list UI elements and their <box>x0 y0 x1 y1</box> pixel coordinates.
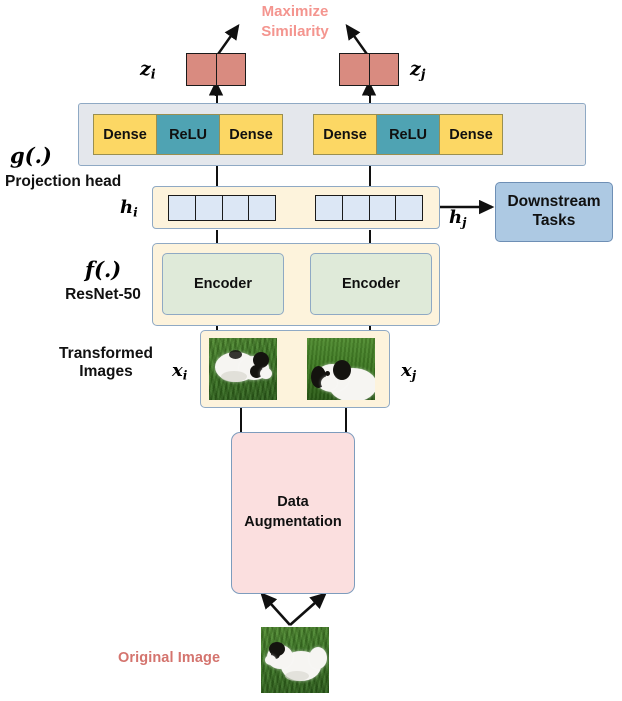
z-i-label: zi <box>140 58 156 83</box>
data-augmentation-block[interactable]: Data Augmentation <box>231 432 355 594</box>
transformed-image-i <box>209 338 277 400</box>
dense-layer-j-1[interactable]: Dense <box>314 115 377 154</box>
dog-shadow <box>221 371 247 382</box>
h-j-label: hj <box>449 207 467 229</box>
projection-head-symbol: g(.) <box>10 143 52 168</box>
z-i-symbol: z <box>140 58 151 80</box>
original-image-label: Original Image <box>118 650 268 666</box>
h-vector-cell <box>223 196 250 220</box>
h-vector-i <box>168 195 276 221</box>
h-j-symbol: h <box>449 207 462 228</box>
projection-head-branch-i: Dense ReLU Dense <box>93 114 283 155</box>
projection-head-label: Projection head <box>5 173 165 191</box>
h-j-subscript: j <box>462 215 466 229</box>
h-vector-cell <box>343 196 370 220</box>
z-j-label: zj <box>410 58 425 83</box>
h-vector-cell <box>370 196 397 220</box>
z-vector-j <box>339 53 399 86</box>
relu-layer-i[interactable]: ReLU <box>157 115 220 154</box>
h-vector-cell <box>196 196 223 220</box>
h-i-label: hi <box>120 197 138 219</box>
downstream-tasks-button[interactable]: Downstream Tasks <box>495 182 613 242</box>
z-vector-cell <box>217 54 246 85</box>
maximize-similarity-label: Maximize Similarity <box>240 2 350 43</box>
dog-muzzle <box>321 376 337 390</box>
x-i-label: xi <box>172 360 187 382</box>
dog-leg-shade <box>285 671 309 681</box>
h-i-subscript: i <box>133 205 138 219</box>
dog-spot <box>229 350 242 359</box>
relu-layer-j[interactable]: ReLU <box>377 115 440 154</box>
z-vector-cell <box>370 54 399 85</box>
dog-ear-right <box>333 360 351 380</box>
original-image <box>261 627 329 693</box>
dog-muzzle <box>260 368 272 379</box>
dense-layer-j-2[interactable]: Dense <box>440 115 502 154</box>
x-j-subscript: j <box>412 368 416 382</box>
encoder-caption: ResNet-50 <box>60 286 146 304</box>
h-vector-cell <box>169 196 196 220</box>
h-vector-j <box>315 195 423 221</box>
z-vector-cell <box>340 54 370 85</box>
z-j-symbol: z <box>410 58 421 80</box>
encoder-i[interactable]: Encoder <box>162 253 284 315</box>
h-i-symbol: h <box>120 197 133 218</box>
z-vector-cell <box>187 54 217 85</box>
x-i-subscript: i <box>183 368 188 382</box>
transformed-images-label: Transformed Images <box>44 345 168 381</box>
transformed-image-j <box>307 338 375 400</box>
h-vector-cell <box>316 196 343 220</box>
x-i-symbol: x <box>172 360 183 381</box>
dog-tail <box>309 647 327 669</box>
encoder-symbol: f(.) <box>85 257 121 282</box>
z-i-subscript: i <box>151 68 156 83</box>
encoder-j[interactable]: Encoder <box>310 253 432 315</box>
diagram-canvas: Maximize Similarity zi zj Dense ReLU Den… <box>0 0 622 701</box>
h-vector-cell <box>396 196 422 220</box>
x-j-symbol: x <box>401 360 412 381</box>
dense-layer-i-2[interactable]: Dense <box>220 115 282 154</box>
projection-head-branch-j: Dense ReLU Dense <box>313 114 503 155</box>
dense-layer-i-1[interactable]: Dense <box>94 115 157 154</box>
x-j-label: xj <box>401 360 416 382</box>
z-vector-i <box>186 53 246 86</box>
dog-eye <box>325 371 330 376</box>
z-j-subscript: j <box>421 68 426 83</box>
h-vector-cell <box>249 196 275 220</box>
